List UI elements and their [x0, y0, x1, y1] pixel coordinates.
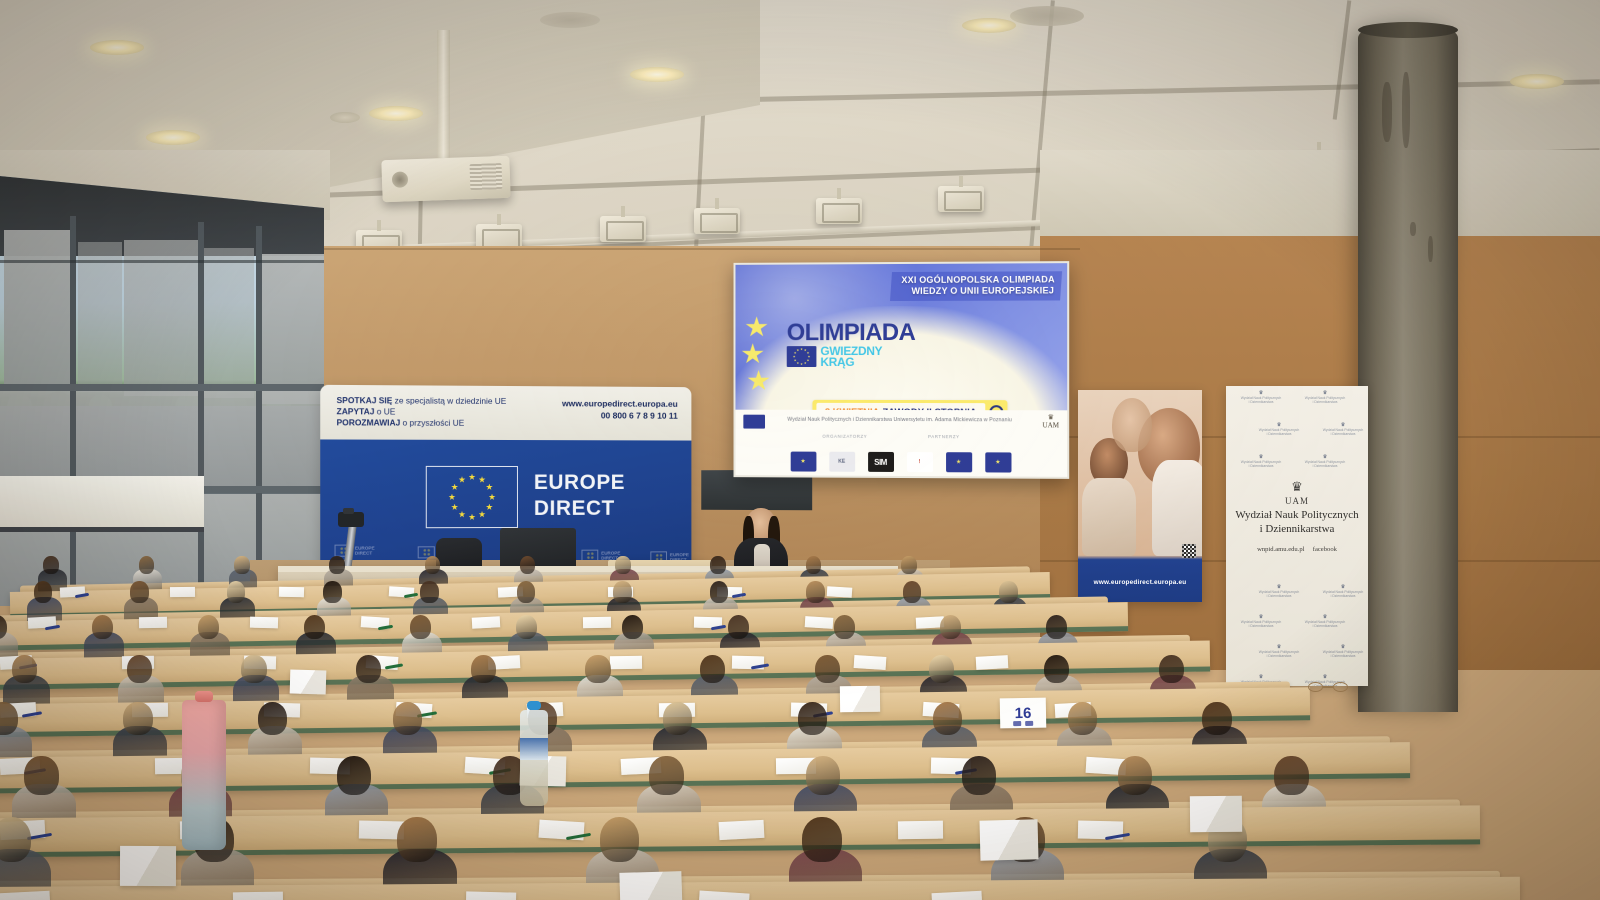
uam-crest-text: UAM	[1226, 494, 1368, 508]
slide-footer: Wydział Nauk Politycznych i Dziennikarst…	[735, 410, 1067, 477]
person-head	[802, 817, 842, 862]
star-icon	[741, 343, 764, 365]
faculty-watermark: ♛Wydział Nauk Politycznychi Dziennikarst…	[1296, 392, 1354, 404]
faculty-title-line1: Wydział Nauk Politycznych	[1226, 508, 1368, 522]
roller-blind[interactable]	[258, 254, 324, 404]
person-head	[12, 655, 37, 684]
person-head	[34, 581, 53, 602]
water-bottle-clear	[520, 710, 548, 806]
answer-sheet-paper	[898, 820, 943, 839]
person-head	[1159, 655, 1184, 684]
banner-photo-person	[1112, 398, 1152, 452]
banner-photo-person	[1082, 478, 1136, 556]
partner-logo: ★	[790, 452, 816, 472]
person-head	[585, 655, 610, 684]
person-head	[420, 581, 439, 602]
person-head	[815, 655, 840, 684]
ceiling-vent	[540, 12, 600, 28]
ceiling-downlight	[90, 40, 144, 55]
track-spotlight	[694, 208, 740, 234]
answer-sheet-paper	[139, 617, 167, 629]
answer-sheet-paper	[279, 586, 304, 597]
eu-flag-icon	[426, 466, 518, 528]
person-head	[710, 581, 729, 602]
person-head	[43, 556, 59, 574]
slogan-3-rest: o przyszłości UE	[400, 418, 464, 428]
ceiling-downlight	[146, 130, 200, 145]
banner-website: www.europedirect.europa.eu	[562, 397, 678, 410]
slogan-3-bold: POROZMAWIAJ	[337, 417, 401, 427]
desk-number-value: 16	[1015, 704, 1032, 721]
track-spotlight	[600, 216, 646, 242]
tent-card	[290, 670, 327, 695]
person-head	[663, 702, 692, 735]
person-head	[940, 615, 962, 639]
person-head	[425, 556, 441, 574]
partner-logo: KE	[829, 452, 855, 472]
partner-logo-sim: SIM	[868, 452, 894, 472]
person-head	[806, 756, 840, 795]
whiteboard	[0, 476, 204, 532]
person-head	[337, 756, 371, 795]
person-head	[517, 581, 536, 602]
faculty-title-line2: i Dziennikarstwa	[1226, 522, 1368, 536]
card-logos	[1000, 721, 1046, 727]
projector-mount	[437, 30, 450, 158]
answer-sheet-paper	[472, 617, 501, 630]
person-head	[615, 556, 631, 574]
person-head	[397, 817, 437, 862]
person-head	[323, 581, 342, 602]
person-head	[123, 702, 152, 735]
person-head	[393, 702, 422, 735]
faculty-watermark: ♛Wydział Nauk Politycznychi Dziennikarst…	[1314, 424, 1368, 436]
banner-photo-person	[1152, 460, 1202, 556]
answer-sheet-paper	[233, 891, 283, 900]
person-head	[516, 615, 538, 639]
person-head	[130, 581, 149, 602]
person-head	[92, 615, 114, 639]
ceiling-downlight	[630, 67, 684, 82]
person-head	[258, 702, 287, 735]
roller-blind[interactable]	[124, 240, 200, 396]
slogan-1-rest: ze specjalistą w dziedzinie UE	[392, 395, 506, 406]
bottle-cap	[527, 701, 541, 710]
answer-sheet-paper	[975, 655, 1008, 669]
roller-blind[interactable]	[78, 242, 122, 392]
person-head	[903, 581, 922, 602]
person-head	[806, 556, 822, 574]
caption-partners: PARTNERZY	[928, 434, 960, 439]
smoke-detector-icon	[330, 112, 360, 123]
person-head	[798, 702, 827, 735]
banner-brand-name: EUROPE DIRECT	[534, 470, 625, 522]
person-head	[139, 556, 155, 574]
caption-organizers: ORGANIZATORZY	[822, 434, 867, 439]
slide-title-line2: WIEDZY O UNII EUROPEJSKIEJ	[900, 285, 1053, 297]
ceiling-vent	[1010, 6, 1084, 26]
olimpiada-logo: OLIMPIADA GWIEZDNY KRĄG	[787, 322, 916, 368]
desk-number-card: 16	[1000, 698, 1047, 729]
person-head	[1068, 702, 1097, 735]
person-head	[0, 817, 31, 862]
ceiling-downlight	[962, 18, 1016, 33]
brand-line1: EUROPE	[534, 470, 625, 496]
banner-contact: www.europedirect.europa.eu 00 800 6 7 8 …	[562, 397, 678, 421]
person-head	[127, 655, 152, 684]
person-head	[1274, 756, 1308, 795]
uam-crest-icon: ♛	[1226, 480, 1368, 494]
banner-phone: 00 800 6 7 8 9 10 11	[562, 409, 678, 421]
slide-footer-organizer: Wydział Nauk Politycznych i Dziennikarst…	[775, 417, 1025, 424]
answer-sheet-paper	[250, 617, 278, 629]
slogan-2-rest: o UE	[374, 406, 395, 416]
star-icon	[745, 316, 768, 338]
qr-code-icon	[1182, 544, 1196, 558]
window-wall	[0, 176, 324, 606]
ceiling-projector	[381, 156, 510, 202]
partner-logo-row: ★ KE SIM ! ★ ★	[735, 451, 1067, 472]
person-head	[933, 702, 962, 735]
bottle-cap	[195, 691, 213, 702]
tent-card	[980, 819, 1039, 860]
lecture-seating: 16	[0, 560, 1460, 900]
person-head	[929, 655, 954, 684]
person-head	[241, 655, 266, 684]
faculty-website: wnpid.amu.edu.pl	[1257, 546, 1304, 553]
person-head	[1046, 615, 1068, 639]
faculty-watermark: ♛Wydział Nauk Politycznychi Dziennikarst…	[1232, 392, 1290, 404]
faculty-watermark: ♛Wydział Nauk Politycznychi Dziennikarst…	[1250, 424, 1308, 436]
answer-sheet-paper	[0, 891, 50, 900]
partner-logo: ★	[985, 452, 1011, 472]
tent-card	[619, 871, 682, 900]
person-head	[613, 581, 632, 602]
person-head	[1044, 655, 1069, 684]
answer-sheet-paper	[853, 655, 886, 670]
person-head	[834, 615, 856, 639]
eu-direct-footer-logo	[743, 415, 765, 429]
logo-main-text: OLIMPIADA	[787, 322, 916, 344]
roller-blind[interactable]	[204, 248, 254, 398]
person-head	[471, 655, 496, 684]
person-head	[356, 655, 381, 684]
presentation-slide: XXI OGÓLNOPOLSKA OLIMPIADA WIEDZY O UNII…	[735, 263, 1067, 477]
europe-direct-watermark: EUROPEDIRECT	[335, 544, 375, 556]
roller-blind[interactable]	[0, 390, 324, 490]
person-head	[622, 615, 644, 639]
eu-flag-icon	[787, 346, 817, 367]
tent-card	[1190, 796, 1242, 833]
person-head	[1118, 756, 1152, 795]
eyeglasses	[1308, 682, 1348, 692]
ceiling-downlight	[1510, 74, 1564, 89]
person-head	[649, 756, 683, 795]
person-head	[999, 581, 1018, 602]
person-head	[901, 556, 917, 574]
person-head	[728, 615, 750, 639]
person-head	[410, 615, 432, 639]
slide-title: XXI OGÓLNOPOLSKA OLIMPIADA WIEDZY O UNII…	[890, 271, 1062, 301]
banner-slogan: SPOTKAJ SIĘ ze specjalistą w dziedzinie …	[337, 395, 507, 429]
faculty-banner-center: ♛ UAM Wydział Nauk Politycznych i Dzienn…	[1226, 480, 1368, 553]
slogan-1-bold: SPOTKAJ SIĘ	[337, 395, 393, 405]
water-bottle-pink	[182, 700, 226, 850]
slide-title-line1: XXI OGÓLNOPOLSKA OLIMPIADA	[901, 274, 1054, 286]
person-head	[806, 581, 825, 602]
person-head	[304, 615, 326, 639]
answer-sheet-paper	[466, 891, 516, 900]
lecture-hall-photo: XXI OGÓLNOPOLSKA OLIMPIADA WIEDZY O UNII…	[0, 0, 1600, 900]
faculty-watermark: ♛Wydział Nauk Politycznychi Dziennikarst…	[1296, 456, 1354, 468]
person-head	[24, 756, 58, 795]
person-head	[710, 556, 726, 574]
bottle-label	[520, 738, 548, 760]
ceiling-downlight	[369, 106, 423, 121]
person-head	[329, 556, 345, 574]
video-camera-icon	[338, 512, 364, 527]
person-head	[600, 817, 640, 862]
faculty-watermark: ♛Wydział Nauk Politycznychi Dziennikarst…	[1232, 456, 1290, 468]
tent-card	[120, 846, 176, 886]
brand-line2: DIRECT	[534, 496, 625, 522]
roller-blind[interactable]	[4, 230, 70, 390]
person-head	[962, 756, 996, 795]
person-head	[700, 655, 725, 684]
star-icon	[747, 370, 770, 392]
person-head	[520, 556, 536, 574]
track-spotlight	[938, 186, 984, 212]
person-head	[227, 581, 246, 602]
slogan-2-bold: ZAPYTAJ	[337, 406, 375, 416]
partner-logo: !	[906, 452, 932, 472]
eu-stars-decoration	[745, 316, 770, 396]
answer-sheet-paper	[169, 586, 194, 596]
answer-sheet-paper	[583, 617, 611, 629]
logo-sub2: KRĄG	[820, 357, 882, 368]
person-head	[1202, 702, 1231, 735]
partner-logo: ★	[946, 452, 972, 472]
track-spotlight	[816, 198, 862, 224]
faculty-social: facebook	[1313, 546, 1337, 553]
tent-card	[840, 686, 880, 713]
answer-sheet-paper	[718, 820, 764, 840]
wall-upper-right	[1040, 150, 1600, 236]
person-head	[0, 702, 18, 735]
uam-crest-icon: ♛UAM	[1042, 413, 1059, 429]
answer-sheet-paper	[932, 891, 983, 900]
projection-screen: XXI OGÓLNOPOLSKA OLIMPIADA WIEDZY O UNII…	[734, 261, 1070, 479]
person-head	[198, 615, 220, 639]
person-head	[234, 556, 250, 574]
